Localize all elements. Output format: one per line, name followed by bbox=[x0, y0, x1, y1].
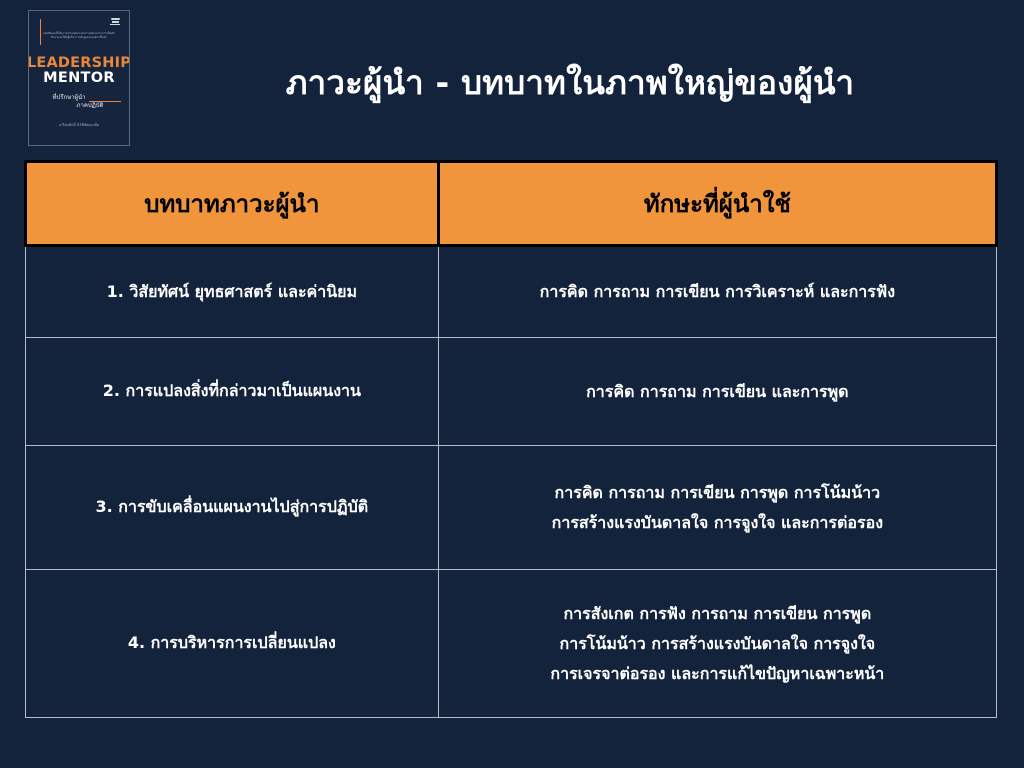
role-cell: 1. วิสัยทัศน์ ยุทธศาสตร์ และค่านิยม bbox=[26, 246, 439, 338]
column-header-skills: ทักษะที่ผู้นำใช้ bbox=[438, 162, 996, 246]
role-cell: 2. การแปลงสิ่งที่กล่าวมาเป็นแผนงาน bbox=[26, 338, 439, 446]
table-row: 4. การบริหารการเปลี่ยนแปลง การสังเกต การ… bbox=[26, 570, 997, 718]
table-row: 2. การแปลงสิ่งที่กล่าวมาเป็นแผนงาน การคิ… bbox=[26, 338, 997, 446]
skill-line: การคิด การถาม การเขียน และการพูด bbox=[451, 377, 984, 407]
skills-cell: การคิด การถาม การเขียน การพูด การโน้มน้า… bbox=[438, 446, 996, 570]
skills-cell: การคิด การถาม การเขียน การวิเคราะห์ และก… bbox=[438, 246, 996, 338]
book-cover-author: เกรียงศักดิ์ นิรัติพัฒนะศัย bbox=[59, 122, 99, 128]
skill-line: การสร้างแรงบันดาลใจ การจูงใจ และการต่อรอ… bbox=[451, 508, 984, 538]
skills-cell: การคิด การถาม การเขียน และการพูด bbox=[438, 338, 996, 446]
table-row: 3. การขับเคลื่อนแผนงานไปสู่การปฏิบัติ กา… bbox=[26, 446, 997, 570]
book-title-leadership: LEADERSHIP bbox=[28, 56, 130, 71]
book-subtitle-line-2: ภาคปฏิบัติ bbox=[37, 102, 121, 110]
table-header: บทบาทภาวะผู้นำ ทักษะที่ผู้นำใช้ bbox=[26, 162, 997, 246]
leadership-roles-table-container: บทบาทภาวะผู้นำ ทักษะที่ผู้นำใช้ 1. วิสัย… bbox=[24, 160, 998, 718]
table-body: 1. วิสัยทัศน์ ยุทธศาสตร์ และค่านิยม การค… bbox=[26, 246, 997, 718]
table-row: 1. วิสัยทัศน์ ยุทธศาสตร์ และค่านิยม การค… bbox=[26, 246, 997, 338]
skill-line: การโน้มน้าว การสร้างแรงบันดาลใจ การจูงใจ bbox=[451, 629, 984, 659]
skill-line: การเจรจาต่อรอง และการแก้ไขปัญหาเฉพาะหน้า bbox=[451, 659, 984, 689]
role-cell: 3. การขับเคลื่อนแผนงานไปสู่การปฏิบัติ bbox=[26, 446, 439, 570]
skill-line: การคิด การถาม การเขียน การพูด การโน้มน้า… bbox=[451, 478, 984, 508]
column-header-role: บทบาทภาวะผู้นำ bbox=[26, 162, 439, 246]
skill-line: การคิด การถาม การเขียน การวิเคราะห์ และก… bbox=[451, 277, 984, 307]
table-header-row: บทบาทภาวะผู้นำ ทักษะที่ผู้นำใช้ bbox=[26, 162, 997, 246]
book-cover-blurb: หนังสือเล่มนี้เป็นการถ่ายทอดประสบการณ์ตร… bbox=[43, 32, 115, 40]
publisher-logo-icon bbox=[110, 17, 120, 26]
book-title-mentor: MENTOR bbox=[28, 71, 130, 86]
leadership-roles-table: บทบาทภาวะผู้นำ ทักษะที่ผู้นำใช้ 1. วิสัย… bbox=[24, 160, 998, 718]
role-cell: 4. การบริหารการเปลี่ยนแปลง bbox=[26, 570, 439, 718]
skill-line: การสังเกต การฟัง การถาม การเขียน การพูด bbox=[451, 599, 984, 629]
book-cover-image: หนังสือเล่มนี้เป็นการถ่ายทอดประสบการณ์ตร… bbox=[28, 10, 130, 146]
book-subtitle-rule bbox=[89, 101, 121, 102]
book-cover-subtitle: ที่ปรึกษาผู้นำ ภาคปฏิบัติ bbox=[37, 94, 121, 110]
book-cover-title: LEADERSHIP MENTOR bbox=[28, 56, 130, 86]
skills-cell: การสังเกต การฟัง การถาม การเขียน การพูด … bbox=[438, 570, 996, 718]
book-accent-bar bbox=[40, 19, 41, 45]
slide-title: ภาวะผู้นำ - บทบาทในภาพใหญ่ของผู้นำ bbox=[140, 56, 1000, 109]
